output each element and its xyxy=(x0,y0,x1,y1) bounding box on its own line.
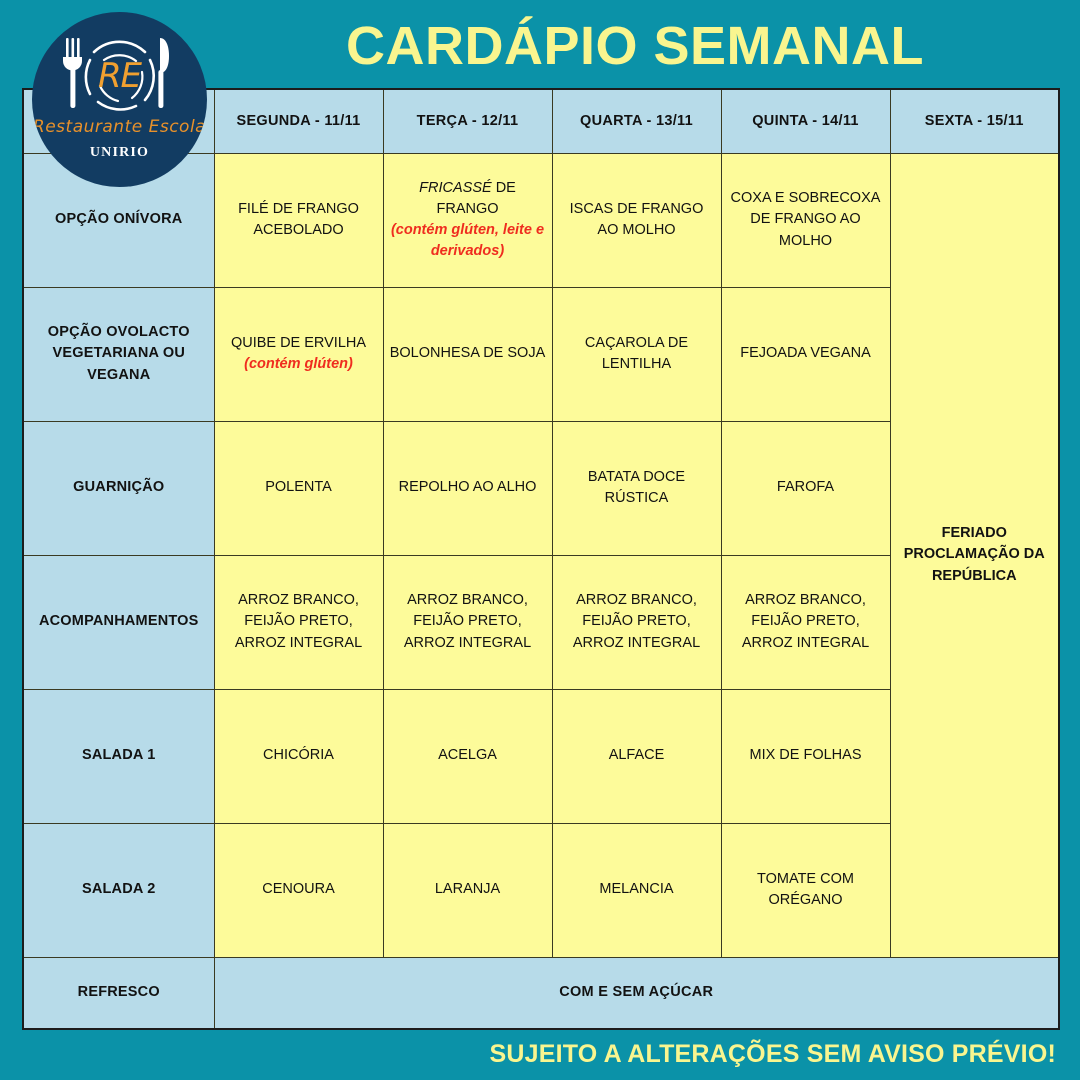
day-header-terca: TERÇA - 12/11 xyxy=(383,89,552,153)
cell-salada1-quinta: MIX DE FOLHAS xyxy=(721,689,890,823)
cell-guarnicao-terca: REPOLHO AO ALHO xyxy=(383,421,552,555)
cell-acompanhamentos-quarta: ARROZ BRANCO, FEIJÃO PRETO, ARROZ INTEGR… xyxy=(552,555,721,689)
cell-guarnicao-quarta: BATATA DOCE RÚSTICA xyxy=(552,421,721,555)
cell-onivora-terca: FRICASSÉ DE FRANGO(contém glúten, leite … xyxy=(383,153,552,287)
category-label-salada2: SALADA 2 xyxy=(23,823,214,957)
logo-monogram: RE xyxy=(32,56,207,96)
dish-name-italic: FRICASSÉ xyxy=(419,180,492,196)
category-label-vegetariana: OPÇÃO OVOLACTO VEGETARIANA OU VEGANA xyxy=(23,287,214,421)
category-label-refresco: REFRESCO xyxy=(23,957,214,1029)
day-header-sexta: SEXTA - 15/11 xyxy=(890,89,1059,153)
weekly-menu-table: SEGUNDA - 11/11 TERÇA - 12/11 QUARTA - 1… xyxy=(22,88,1060,1030)
day-header-segunda: SEGUNDA - 11/11 xyxy=(214,89,383,153)
cell-vegetariana-quarta: CAÇAROLA DE LENTILHA xyxy=(552,287,721,421)
cell-salada1-segunda: CHICÓRIA xyxy=(214,689,383,823)
category-label-salada1: SALADA 1 xyxy=(23,689,214,823)
dish-name: QUIBE DE ERVILHA xyxy=(231,335,366,351)
table-row-refresco: REFRESCO COM E SEM AÇÚCAR xyxy=(23,957,1059,1029)
friday-holiday-notice: FERIADO PROCLAMAÇÃO DA REPÚBLICA xyxy=(890,153,1059,957)
cell-acompanhamentos-segunda: ARROZ BRANCO, FEIJÃO PRETO, ARROZ INTEGR… xyxy=(214,555,383,689)
cell-refresco-all-days: COM E SEM AÇÚCAR xyxy=(214,957,1059,1029)
cell-acompanhamentos-quinta: ARROZ BRANCO, FEIJÃO PRETO, ARROZ INTEGR… xyxy=(721,555,890,689)
cell-guarnicao-segunda: POLENTA xyxy=(214,421,383,555)
cell-vegetariana-segunda: QUIBE DE ERVILHA(contém glúten) xyxy=(214,287,383,421)
cell-salada2-quarta: MELANCIA xyxy=(552,823,721,957)
cell-acompanhamentos-terca: ARROZ BRANCO, FEIJÃO PRETO, ARROZ INTEGR… xyxy=(383,555,552,689)
logo-institution-text: UNIRIO xyxy=(32,145,207,161)
cell-salada2-terca: LARANJA xyxy=(383,823,552,957)
day-header-quinta: QUINTA - 14/11 xyxy=(721,89,890,153)
disclaimer-notice: SUJEITO A ALTERAÇÕES SEM AVISO PRÉVIO! xyxy=(0,1032,1056,1076)
cell-onivora-segunda: FILÉ DE FRANGO ACEBOLADO xyxy=(214,153,383,287)
cell-salada1-terca: ACELGA xyxy=(383,689,552,823)
table-row-onivora: OPÇÃO ONÍVORA FILÉ DE FRANGO ACEBOLADO F… xyxy=(23,153,1059,287)
cell-onivora-quarta: ISCAS DE FRANGO AO MOLHO xyxy=(552,153,721,287)
cell-vegetariana-terca: BOLONHESA DE SOJA xyxy=(383,287,552,421)
cell-vegetariana-quinta: FEJOADA VEGANA xyxy=(721,287,890,421)
category-label-guarnicao: GUARNIÇÃO xyxy=(23,421,214,555)
logo-name-text: Restaurante Escola xyxy=(32,117,207,137)
allergen-warning: (contém glúten) xyxy=(221,354,377,375)
cell-salada2-quinta: TOMATE COM ORÉGANO xyxy=(721,823,890,957)
page-title: CARDÁPIO SEMANAL xyxy=(215,8,1055,84)
cell-salada1-quarta: ALFACE xyxy=(552,689,721,823)
allergen-warning: (contém glúten, leite e derivados) xyxy=(390,220,546,262)
cell-salada2-segunda: CENOURA xyxy=(214,823,383,957)
cell-guarnicao-quinta: FAROFA xyxy=(721,421,890,555)
category-label-acompanhamentos: ACOMPANHAMENTOS xyxy=(23,555,214,689)
restaurant-escola-logo: RE Restaurante Escola UNIRIO xyxy=(32,12,207,187)
cell-onivora-quinta: COXA E SOBRECOXA DE FRANGO AO MOLHO xyxy=(721,153,890,287)
day-header-quarta: QUARTA - 13/11 xyxy=(552,89,721,153)
